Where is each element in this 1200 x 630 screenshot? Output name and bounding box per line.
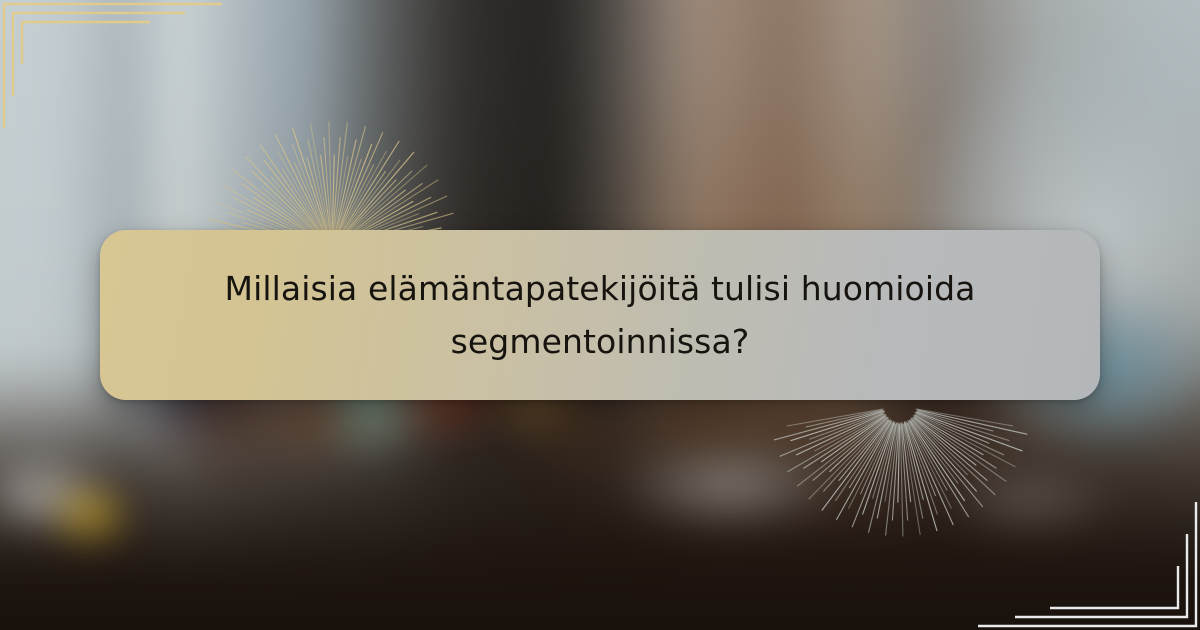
question-card: Millaisia elämäntapatekijöitä tulisi huo… xyxy=(100,230,1100,400)
screenshot-stage: Millaisia elämäntapatekijöitä tulisi huo… xyxy=(0,0,1200,630)
question-text: Millaisia elämäntapatekijöitä tulisi huo… xyxy=(160,262,1040,369)
